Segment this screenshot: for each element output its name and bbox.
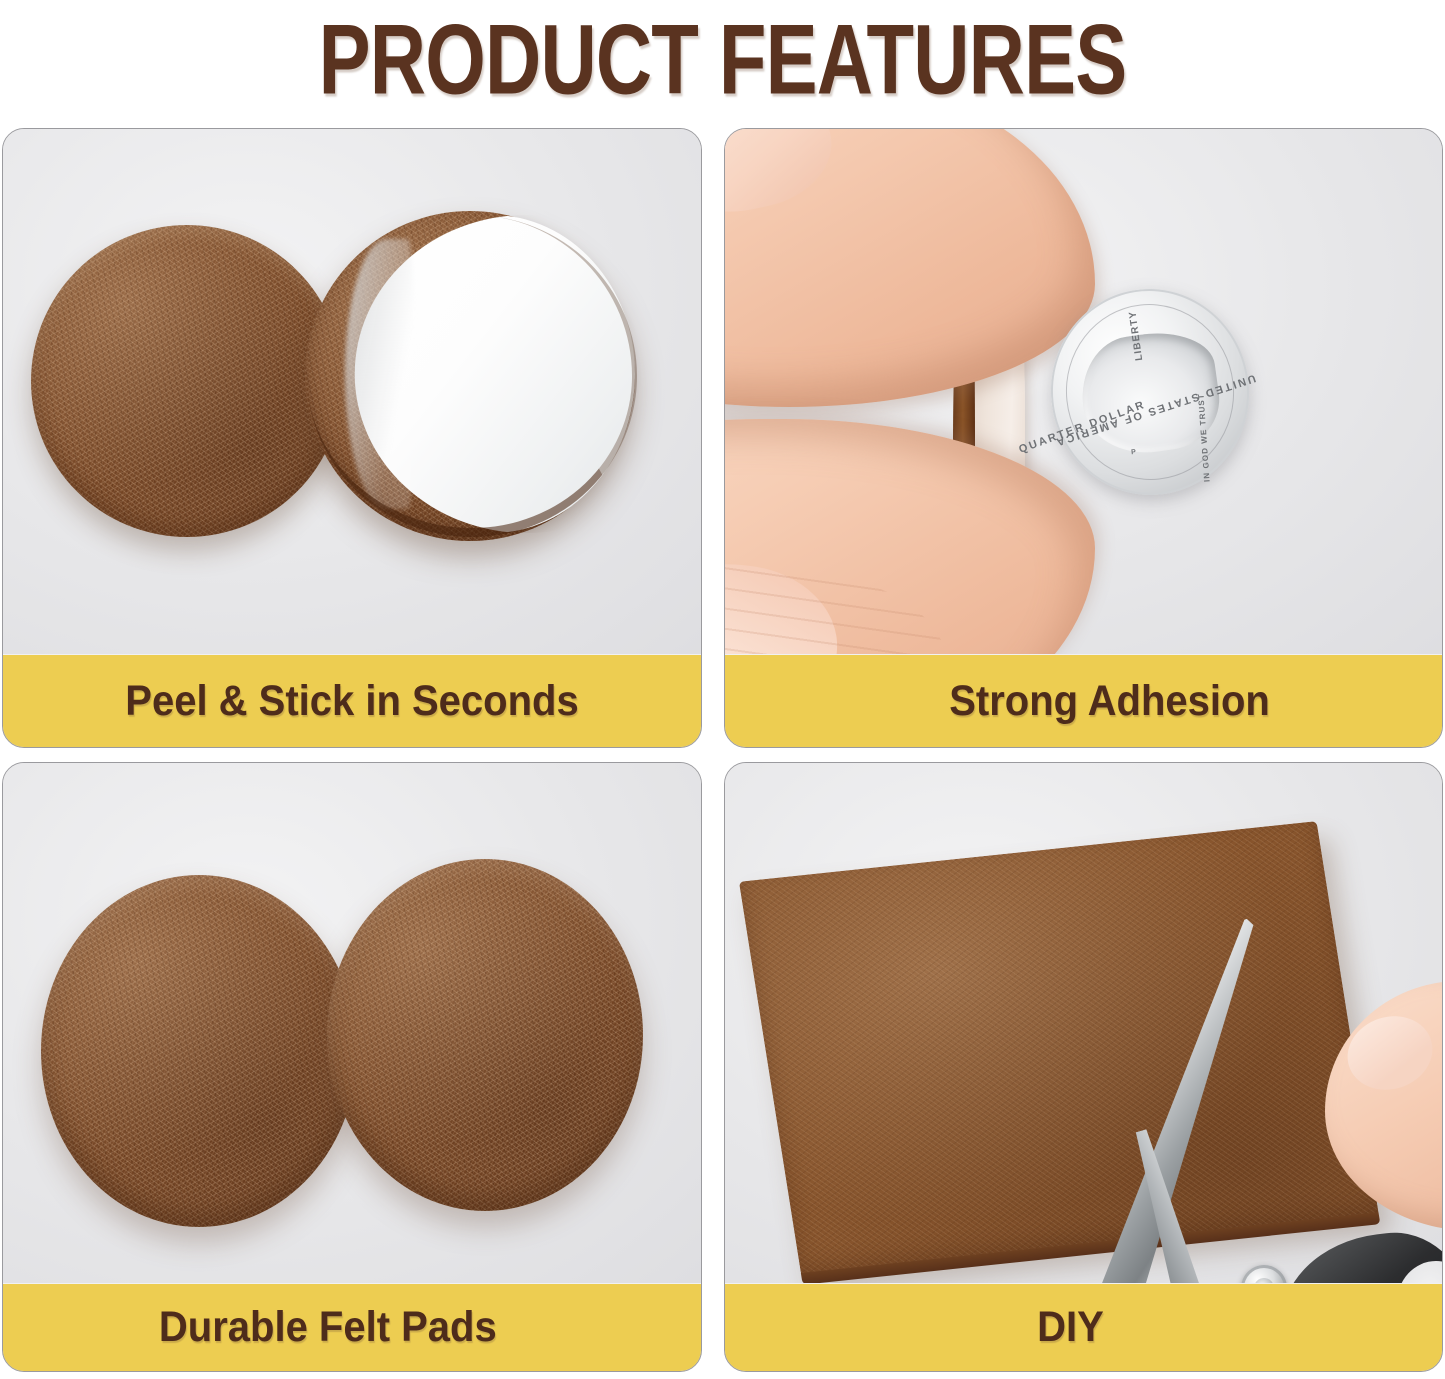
feature-caption-durable-felt-pads: Durable Felt Pads [3, 1283, 701, 1371]
coin-mint-mark: P [1131, 449, 1137, 457]
page-title: PRODUCT FEATURES [319, 3, 1127, 117]
fingernail-icon [1338, 1005, 1442, 1100]
feature-card-strong-adhesion: UNITED STATES OF AMERICA QUARTER DOLLAR … [724, 128, 1443, 748]
fingernail-icon [725, 129, 842, 225]
feature-photo-strong-adhesion: UNITED STATES OF AMERICA QUARTER DOLLAR … [725, 129, 1442, 654]
feature-caption-strong-adhesion: Strong Adhesion [725, 654, 1442, 747]
caption-label: DIY [737, 1303, 1404, 1352]
scissors-pivot-screw-icon [1241, 1265, 1287, 1283]
page-header: PRODUCT FEATURES [0, 0, 1445, 120]
index-finger-icon [725, 129, 1095, 407]
product-features-infographic: PRODUCT FEATURES Peel & Stick in Seconds [0, 0, 1445, 1379]
felt-pad-edge-icon [307, 215, 637, 537]
felt-pad-left-icon [41, 875, 357, 1227]
feature-photo-diy [725, 763, 1442, 1283]
felt-pad-with-liner [305, 211, 635, 541]
felt-sheet-edge-icon [801, 1212, 1380, 1283]
feature-photo-peel-stick [3, 129, 701, 654]
caption-label: Peel & Stick in Seconds [27, 677, 676, 726]
caption-label: Durable Felt Pads [3, 1303, 652, 1352]
feature-photo-durable-felt-pads [3, 763, 701, 1283]
feature-card-durable-felt-pads: Durable Felt Pads [2, 762, 702, 1372]
caption-label: Strong Adhesion [776, 677, 1443, 726]
feature-caption-diy: DIY [725, 1283, 1442, 1371]
feature-card-diy: DIY [724, 762, 1443, 1372]
feature-card-peel-stick: Peel & Stick in Seconds [2, 128, 702, 748]
felt-sheet-icon [739, 821, 1379, 1277]
felt-pad-back-icon [31, 225, 343, 537]
felt-pad-right-icon [327, 859, 643, 1211]
feature-caption-peel-stick: Peel & Stick in Seconds [3, 654, 701, 747]
